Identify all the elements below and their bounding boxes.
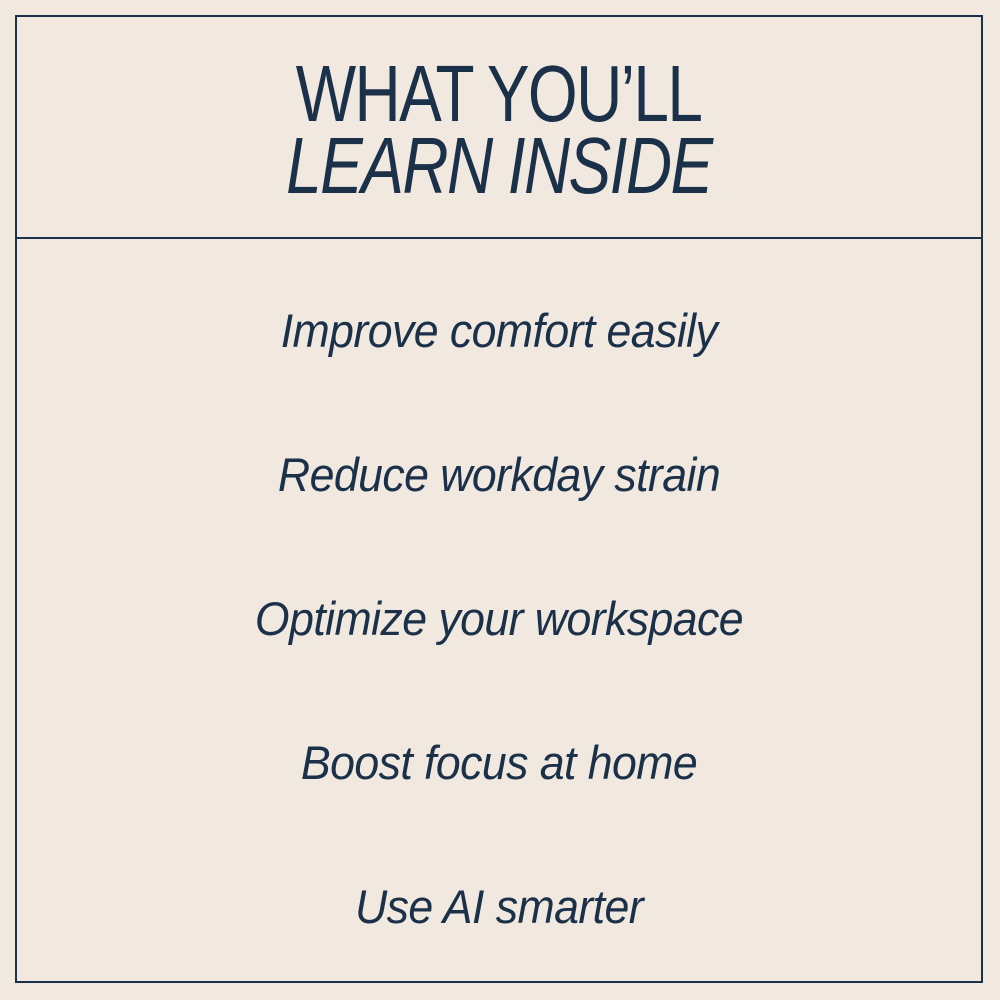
title-line-2: LEARN INSIDE bbox=[286, 129, 711, 203]
poster-card: WHAT YOU’LL LEARN INSIDE Improve comfort… bbox=[15, 15, 983, 983]
list-item: Optimize your workspace bbox=[41, 595, 957, 642]
list-item: Boost focus at home bbox=[41, 739, 957, 786]
header-section: WHAT YOU’LL LEARN INSIDE bbox=[17, 17, 981, 239]
list-item: Use AI smarter bbox=[41, 883, 957, 930]
list-item: Reduce workday strain bbox=[41, 451, 957, 498]
title-line-1: WHAT YOU’LL bbox=[296, 57, 702, 131]
benefits-list: Improve comfort easily Reduce workday st… bbox=[17, 239, 981, 981]
list-item: Improve comfort easily bbox=[41, 307, 957, 354]
